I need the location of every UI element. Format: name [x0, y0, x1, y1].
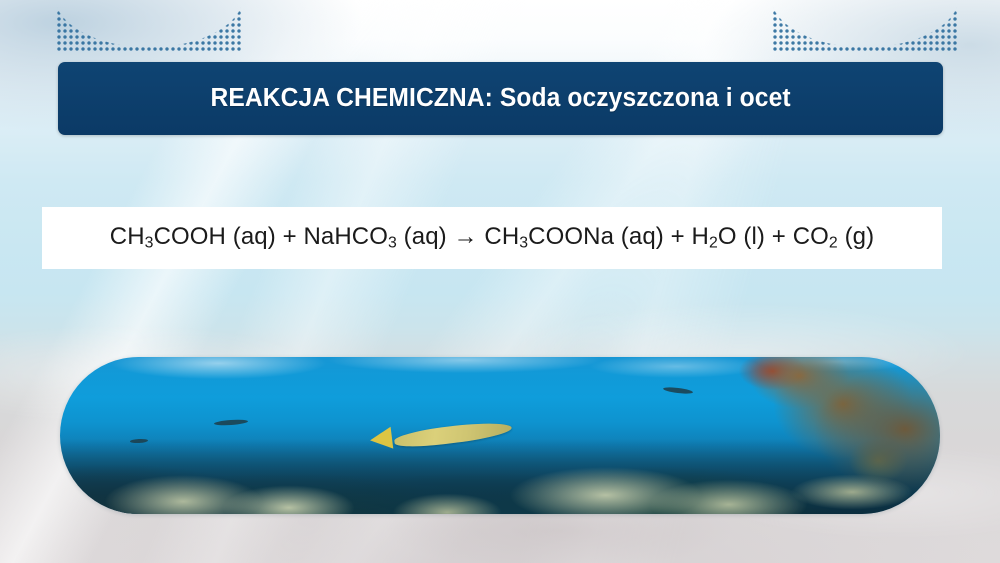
reactant-1-formula: CH — [110, 223, 145, 250]
product-3-rest: (g) — [838, 223, 874, 250]
reactant-2-rest: (aq) — [397, 223, 447, 250]
reactant-1-subscript: 3 — [145, 235, 154, 252]
reactant-1-rest: COOH (aq) — [154, 223, 276, 250]
plus-sign-3: + — [765, 223, 793, 250]
plus-sign-1: + — [276, 223, 304, 250]
product-3-formula: CO — [793, 223, 829, 250]
reaction-arrow-icon: → — [447, 223, 485, 250]
product-3-subscript: 2 — [829, 235, 838, 252]
product-2-rest: O (l) — [718, 223, 765, 250]
product-2-formula: H — [692, 223, 709, 250]
product-1-subscript: 3 — [519, 235, 528, 252]
halftone-dots-right-icon — [772, 0, 958, 52]
product-1-rest: COONa (aq) — [528, 223, 664, 250]
title-banner: REAKCJA CHEMICZNA: Soda oczyszczona i oc… — [58, 62, 943, 135]
reef-outcrop-layer — [60, 357, 940, 514]
coral-reef-image — [60, 357, 940, 514]
page-title: REAKCJA CHEMICZNA: Soda oczyszczona i oc… — [210, 84, 790, 113]
equation-panel: CH3COOH (aq) + NaHCO3 (aq) → CH3COONa (a… — [42, 207, 942, 269]
product-1-formula: CH — [484, 223, 519, 250]
reactant-2-formula: NaHCO — [303, 223, 388, 250]
halftone-dots-left-icon — [56, 0, 242, 52]
yellow-fish-tail — [368, 426, 393, 451]
reactant-2-subscript: 3 — [388, 235, 397, 252]
slide-canvas: REAKCJA CHEMICZNA: Soda oczyszczona i oc… — [0, 0, 1000, 563]
chemical-equation: CH3COOH (aq) + NaHCO3 (aq) → CH3COONa (a… — [110, 223, 874, 252]
product-2-subscript: 2 — [709, 235, 718, 252]
plus-sign-2: + — [664, 223, 692, 250]
